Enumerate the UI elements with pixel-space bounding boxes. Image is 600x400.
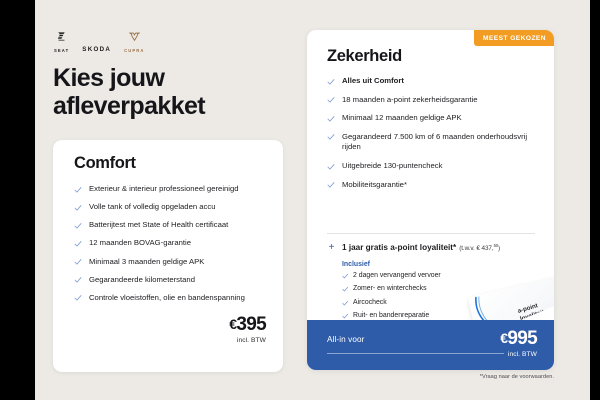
list-item: Batterijtest met State of Health certifi… (74, 220, 266, 231)
check-icon (74, 240, 82, 248)
list-item-label: Mobiliteitsgarantie* (342, 180, 407, 189)
check-icon (342, 300, 349, 307)
allin-label: All-in voor (327, 335, 365, 344)
comfort-price-value: 395 (236, 314, 266, 335)
page-canvas: SEAT SKODA CUPRA Kies jouw afleverpakket (35, 0, 590, 400)
zekerheid-title: Zekerheid (327, 47, 402, 66)
list-item: Minimaal 12 maanden geldige APK (327, 113, 535, 123)
list-item-label: Uitgebreide 130-puntencheck (342, 161, 442, 170)
loyalty-value: (t.w.v. € 437,50) (459, 245, 500, 252)
seat-logo: SEAT (54, 30, 69, 53)
skoda-logo: SKODA (82, 42, 111, 53)
list-item: Uitgebreide 130-puntencheck (327, 161, 535, 171)
comfort-price-note: incl. BTW (229, 337, 266, 344)
zekerheid-price-note: incl. BTW (500, 351, 537, 358)
check-icon (327, 96, 335, 104)
check-icon (342, 273, 349, 280)
loyalty-heading: + 1 jaar gratis a-point loyaliteit*(t.w.… (327, 243, 542, 254)
list-item: 12 maanden BOVAG-garantie (74, 238, 266, 249)
list-item-label: Volle tank of volledig opgeladen accu (89, 202, 216, 211)
list-item-label: Aircocheck (353, 299, 387, 306)
list-item-label: Minimaal 12 maanden geldige APK (342, 113, 462, 122)
list-item: Volle tank of volledig opgeladen accu (74, 202, 266, 213)
comfort-feature-list: Exterieur & interieur professioneel gere… (74, 184, 266, 311)
list-item: 18 maanden a-point zekerheidsgarantie (327, 95, 535, 105)
list-item-label: Minimaal 3 maanden geldige APK (89, 257, 204, 266)
list-item: Controle vloeistoffen, olie en bandenspa… (74, 293, 266, 304)
check-icon (74, 186, 82, 194)
list-item: Mobiliteitsgarantie* (327, 180, 535, 190)
check-icon (342, 286, 349, 293)
page-title: Kies jouw afleverpakket (53, 64, 288, 121)
cupra-wordmark: CUPRA (124, 48, 144, 53)
zekerheid-price-amount: €995 (500, 329, 537, 348)
list-item: Gegarandeerde kilometerstand (74, 275, 266, 286)
zekerheid-feature-list: Alles uit Comfort18 maanden a-point zeke… (327, 76, 535, 198)
cupra-mark-icon (129, 30, 140, 46)
cupra-logo: CUPRA (124, 30, 144, 53)
loyalty-title: 1 jaar gratis a-point loyaliteit* (342, 243, 456, 252)
allin-rule (327, 353, 504, 354)
footnote: *Vraag naar de voorwaarden. (307, 374, 556, 380)
list-item-label: Exterieur & interieur professioneel gere… (89, 184, 239, 193)
zekerheid-package-card[interactable]: MEEST GEKOZEN Zekerheid Alles uit Comfor… (307, 30, 554, 370)
list-item-label: Zomer- en winterchecks (353, 285, 427, 292)
zekerheid-price-value: 995 (507, 328, 537, 349)
left-column: SEAT SKODA CUPRA Kies jouw afleverpakket (35, 0, 307, 400)
allin-price-bar: All-in voor €995 incl. BTW (307, 320, 554, 370)
check-icon (342, 313, 349, 320)
comfort-title: Comfort (74, 154, 136, 173)
list-item-label: Alles uit Comfort (342, 76, 404, 85)
comfort-price: €395 incl. BTW (229, 315, 266, 344)
comfort-price-amount: €395 (229, 315, 266, 334)
list-item-label: 18 maanden a-point zekerheidsgarantie (342, 95, 477, 104)
seat-wordmark: SEAT (54, 48, 69, 53)
skoda-wordmark: SKODA (82, 46, 111, 53)
list-item-label: Batterijtest met State of Health certifi… (89, 220, 228, 229)
list-item-label: Gegarandeerde kilometerstand (89, 275, 195, 284)
check-icon (74, 258, 82, 266)
list-item-label: Ruit- en bandenreparatie (353, 312, 429, 319)
list-item: 2 dagen vervangend vervoer (342, 272, 542, 281)
check-icon (74, 222, 82, 230)
inclusief-label: Inclusief (342, 261, 542, 268)
status-badge: MEEST GEKOZEN (474, 30, 554, 46)
zekerheid-price: €995 incl. BTW (500, 329, 537, 358)
comfort-package-card[interactable]: Comfort Exterieur & interieur profession… (53, 140, 283, 372)
check-icon (74, 276, 82, 284)
check-icon (327, 163, 335, 171)
list-item: Gegarandeerd 7.500 km of 6 maanden onder… (327, 132, 535, 153)
list-item: Minimaal 3 maanden geldige APK (74, 257, 266, 268)
seat-mark-icon (56, 30, 67, 46)
list-item-label: 2 dagen vervangend vervoer (353, 272, 441, 279)
check-icon (327, 181, 335, 189)
brand-logo-row: SEAT SKODA CUPRA (54, 30, 145, 53)
check-icon (327, 78, 335, 86)
check-icon (327, 115, 335, 123)
list-item-label: Controle vloeistoffen, olie en bandenspa… (89, 293, 245, 302)
check-icon (74, 204, 82, 212)
check-icon (327, 133, 335, 141)
list-item: Alles uit Comfort (327, 76, 535, 86)
divider (327, 233, 535, 234)
list-item-label: 12 maanden BOVAG-garantie (89, 238, 191, 247)
loyalty-value-main: (t.w.v. € 437, (459, 245, 493, 252)
check-icon (74, 294, 82, 302)
list-item: Exterieur & interieur professioneel gere… (74, 184, 266, 195)
loyalty-value-end: ) (498, 245, 500, 252)
list-item-label: Gegarandeerd 7.500 km of 6 maanden onder… (342, 132, 527, 151)
plus-icon: + (327, 243, 336, 252)
screenshot-stage: SEAT SKODA CUPRA Kies jouw afleverpakket (0, 0, 600, 400)
